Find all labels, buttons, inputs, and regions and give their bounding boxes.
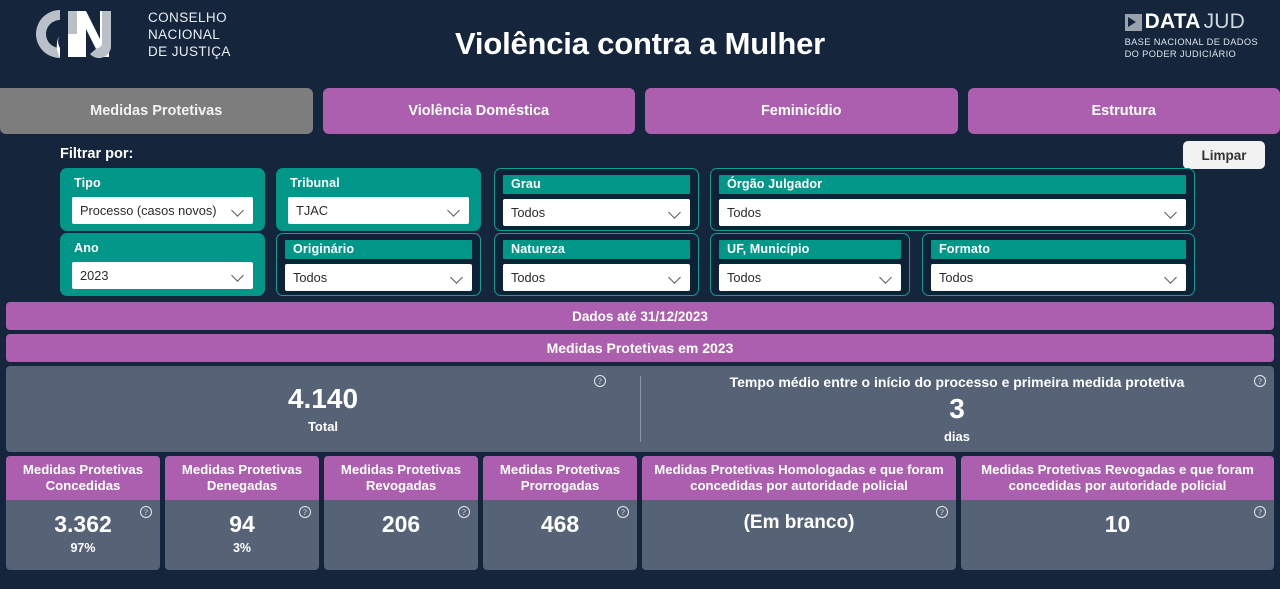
- kpi-card-concedidas: Medidas Protetivas Concedidas ? 3.362 97…: [6, 456, 160, 570]
- chevron-down-icon: [451, 271, 464, 284]
- chevron-down-icon: [448, 204, 461, 217]
- filter-label-originario: Originário: [285, 240, 472, 259]
- kpi-total: 4.140 Total ?: [6, 366, 640, 452]
- filter-select-tribunal[interactable]: TJAC: [288, 197, 469, 224]
- datajud-arrow-icon: [1125, 14, 1142, 31]
- kpi-card-value: (Em branco): [744, 513, 855, 532]
- chevron-down-icon: [669, 271, 682, 284]
- kpi-card-value: 10: [1105, 513, 1131, 536]
- filter-select-ano[interactable]: 2023: [72, 262, 253, 289]
- filter-select-orgao-julgador[interactable]: Todos: [719, 199, 1186, 226]
- datajud-subtitle-1: BASE NACIONAL DE DADOS: [1125, 36, 1258, 48]
- kpi-card-title: Medidas Protetivas Concedidas: [6, 456, 160, 500]
- cnj-logo-icon: [30, 6, 138, 62]
- kpi-summary-panel: 4.140 Total ? Tempo médio entre o início…: [6, 366, 1274, 452]
- filter-card-originario: Originário Todos: [276, 233, 481, 296]
- datajud-logo: DATAJUD BASE NACIONAL DE DADOS DO PODER …: [1125, 10, 1258, 61]
- tab-feminicidio[interactable]: Feminicídio: [645, 88, 958, 134]
- kpi-card-revogadas: Medidas Protetivas Revogadas ? 206: [324, 456, 478, 570]
- cnj-line-1: CONSELHO: [148, 9, 231, 26]
- filter-card-orgao-julgador: Órgão Julgador Todos: [710, 168, 1195, 231]
- chevron-down-icon: [880, 271, 893, 284]
- cnj-logo: CONSELHO NACIONAL DE JUSTIÇA: [30, 6, 231, 62]
- kpi-card-denegadas: Medidas Protetivas Denegadas ? 94 3%: [165, 456, 319, 570]
- kpi-card-title: Medidas Protetivas Homologadas e que for…: [642, 456, 956, 500]
- help-icon[interactable]: ?: [617, 506, 629, 518]
- kpi-card-value: 206: [382, 513, 420, 536]
- filter-label-ano: Ano: [60, 233, 265, 255]
- kpi-card-percent: 3%: [233, 541, 251, 555]
- filter-value-tribunal: TJAC: [296, 203, 448, 218]
- chevron-down-icon: [232, 204, 245, 217]
- filter-select-grau[interactable]: Todos: [503, 199, 690, 226]
- datajud-word-jud: JUD: [1204, 10, 1245, 34]
- filter-select-originario[interactable]: Todos: [285, 264, 472, 291]
- chevron-down-icon: [1165, 271, 1178, 284]
- kpi-card-percent: 97%: [70, 541, 95, 555]
- filter-value-natureza: Todos: [511, 270, 669, 285]
- kpi-card-revogadas-autoridade-policial: Medidas Protetivas Revogadas e que foram…: [961, 456, 1274, 570]
- filter-select-uf-municipio[interactable]: Todos: [719, 264, 901, 291]
- filter-value-ano: 2023: [80, 268, 232, 283]
- banner-medidas-ano: Medidas Protetivas em 2023: [6, 334, 1274, 362]
- filter-section-label: Filtrar por:: [60, 146, 133, 162]
- kpi-card-value: 3.362: [54, 513, 112, 536]
- kpi-tempo-value: 3: [949, 394, 965, 425]
- filter-label-formato: Formato: [931, 240, 1186, 259]
- tab-estrutura[interactable]: Estrutura: [968, 88, 1280, 134]
- help-icon[interactable]: ?: [1254, 506, 1266, 518]
- filter-value-uf-municipio: Todos: [727, 270, 880, 285]
- filter-card-uf-municipio: UF, Município Todos: [710, 233, 910, 296]
- help-icon[interactable]: ?: [936, 506, 948, 518]
- chevron-down-icon: [669, 206, 682, 219]
- datajud-word-data: DATA: [1145, 10, 1201, 34]
- help-icon[interactable]: ?: [458, 506, 470, 518]
- kpi-total-label: Total: [308, 419, 338, 434]
- filter-card-ano: Ano 2023: [60, 233, 265, 296]
- help-icon[interactable]: ?: [140, 506, 152, 518]
- filter-label-uf-municipio: UF, Município: [719, 240, 901, 259]
- filter-bar: Filtrar por: Limpar Tipo Processo (casos…: [0, 134, 1280, 302]
- filter-select-tipo[interactable]: Processo (casos novos): [72, 197, 253, 224]
- kpi-card-title: Medidas Protetivas Prorrogadas: [483, 456, 637, 500]
- filter-card-natureza: Natureza Todos: [494, 233, 699, 296]
- filter-value-orgao-julgador: Todos: [727, 205, 1165, 220]
- kpi-card-value: 468: [541, 513, 579, 536]
- kpi-card-title: Medidas Protetivas Revogadas e que foram…: [961, 456, 1274, 500]
- filter-value-formato: Todos: [939, 270, 1165, 285]
- cnj-logo-text: CONSELHO NACIONAL DE JUSTIÇA: [148, 9, 231, 60]
- chevron-down-icon: [232, 269, 245, 282]
- kpi-card-value: 94: [229, 513, 255, 536]
- kpi-card-prorrogadas: Medidas Protetivas Prorrogadas ? 468: [483, 456, 637, 570]
- filter-label-tribunal: Tribunal: [276, 168, 481, 190]
- filter-value-grau: Todos: [511, 205, 669, 220]
- filter-label-natureza: Natureza: [503, 240, 690, 259]
- main-tab-bar: Medidas Protetivas Violência Doméstica F…: [0, 88, 1280, 134]
- kpi-tempo-medio: Tempo médio entre o início do processo e…: [640, 366, 1274, 452]
- cnj-line-3: DE JUSTIÇA: [148, 43, 231, 60]
- clear-filters-button[interactable]: Limpar: [1183, 141, 1265, 169]
- filter-card-formato: Formato Todos: [922, 233, 1195, 296]
- filter-card-tribunal: Tribunal TJAC: [276, 168, 481, 231]
- filter-card-grau: Grau Todos: [494, 168, 699, 231]
- kpi-card-row: Medidas Protetivas Concedidas ? 3.362 97…: [6, 456, 1274, 570]
- filter-value-tipo: Processo (casos novos): [80, 203, 232, 218]
- help-icon[interactable]: ?: [594, 375, 606, 387]
- filter-select-natureza[interactable]: Todos: [503, 264, 690, 291]
- tab-violencia-domestica[interactable]: Violência Doméstica: [323, 88, 636, 134]
- filter-label-grau: Grau: [503, 175, 690, 194]
- help-icon[interactable]: ?: [1254, 375, 1266, 387]
- filter-grid: Tipo Processo (casos novos) Ano 2023 Tri…: [60, 168, 1258, 293]
- kpi-card-title: Medidas Protetivas Denegadas: [165, 456, 319, 500]
- kpi-total-value: 4.140: [288, 384, 358, 415]
- help-icon[interactable]: ?: [299, 506, 311, 518]
- banner-data-ate: Dados até 31/12/2023: [6, 302, 1274, 330]
- chevron-down-icon: [1165, 206, 1178, 219]
- cnj-line-2: NACIONAL: [148, 26, 231, 43]
- app-header: CONSELHO NACIONAL DE JUSTIÇA Violência c…: [0, 0, 1280, 88]
- filter-select-formato[interactable]: Todos: [931, 264, 1186, 291]
- tab-medidas-protetivas[interactable]: Medidas Protetivas: [0, 88, 313, 134]
- filter-label-orgao-julgador: Órgão Julgador: [719, 175, 1186, 194]
- datajud-subtitle-2: DO PODER JUDICIÁRIO: [1125, 48, 1258, 60]
- filter-card-tipo: Tipo Processo (casos novos): [60, 168, 265, 231]
- kpi-tempo-title: Tempo médio entre o início do processo e…: [730, 374, 1185, 390]
- kpi-tempo-unit: dias: [944, 429, 970, 444]
- kpi-card-title: Medidas Protetivas Revogadas: [324, 456, 478, 500]
- filter-value-originario: Todos: [293, 270, 451, 285]
- kpi-card-homologadas-autoridade-policial: Medidas Protetivas Homologadas e que for…: [642, 456, 956, 570]
- filter-label-tipo: Tipo: [60, 168, 265, 190]
